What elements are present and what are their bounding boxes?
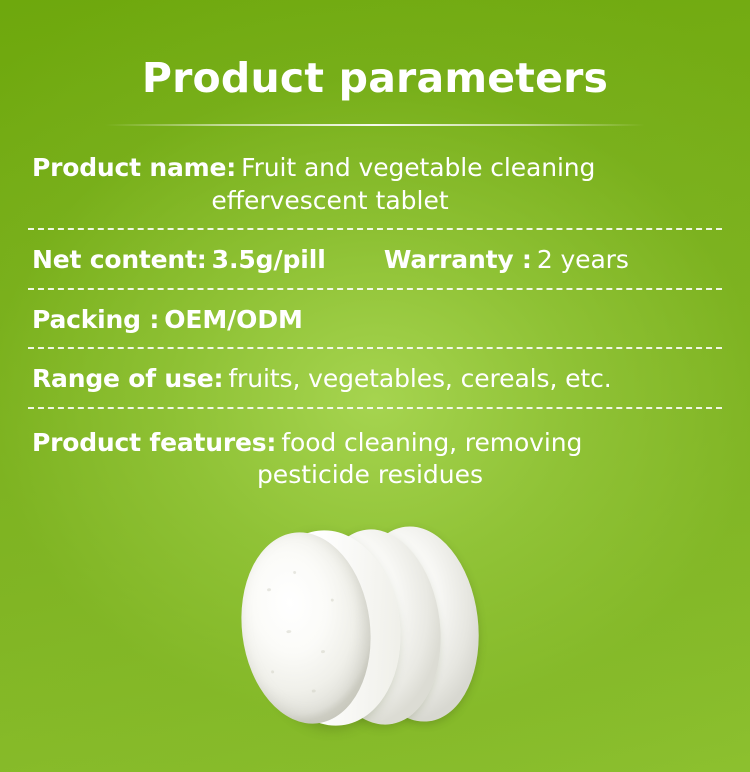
spec-value-product-name: Fruit and vegetable cleaning (241, 153, 595, 182)
spec-divider (28, 228, 722, 230)
spec-value-range-of-use: fruits, vegetables, cereals, etc. (228, 364, 611, 393)
spec-value-warranty: 2 years (537, 245, 629, 274)
spec-value-product-name-line2: effervescent tablet (28, 185, 722, 218)
spec-label-product-features: Product features: (32, 428, 276, 457)
spec-label-net-content: Net content: (32, 245, 207, 274)
spec-row-packing: Packing : OEM/ODM (0, 302, 750, 337)
spec-value-product-features-line2: pesticide residues (28, 459, 722, 492)
spec-line-primary: Product name: Fruit and vegetable cleani… (28, 152, 722, 185)
spec-label-range-of-use: Range of use: (32, 364, 223, 393)
product-image (238, 518, 488, 738)
spec-label-product-name: Product name: (32, 153, 236, 182)
spec-row-product-name: Product name: Fruit and vegetable cleani… (0, 152, 750, 217)
spec-line-primary: Net content: 3.5g/pill Warranty : 2 year… (28, 242, 722, 277)
spec-line-primary: Packing : OEM/ODM (28, 304, 722, 337)
spec-value-packing: OEM/ODM (164, 305, 303, 334)
spec-value-net-content: 3.5g/pill (212, 245, 326, 274)
spec-value-product-features: food cleaning, removing (281, 428, 582, 457)
poster-header: Product parameters (0, 0, 750, 140)
spec-list: Product name: Fruit and vegetable cleani… (0, 152, 750, 492)
title-underline-rule (105, 124, 645, 126)
spec-row-range-of-use: Range of use: fruits, vegetables, cereal… (0, 361, 750, 396)
spec-line-primary: Range of use: fruits, vegetables, cereal… (28, 363, 722, 396)
spec-divider (28, 407, 722, 409)
spec-row-product-features: Product features: food cleaning, removin… (0, 421, 750, 492)
page-title: Product parameters (0, 58, 750, 99)
product-parameters-poster: Product parameters Product name: Fruit a… (0, 0, 750, 772)
spec-divider (28, 288, 722, 290)
spec-label-warranty: Warranty : (384, 245, 532, 274)
spec-line-primary: Product features: food cleaning, removin… (28, 427, 722, 460)
spec-divider (28, 347, 722, 349)
spec-row-net-content: Net content: 3.5g/pill Warranty : 2 year… (0, 242, 750, 277)
spec-label-packing: Packing : (32, 305, 159, 334)
